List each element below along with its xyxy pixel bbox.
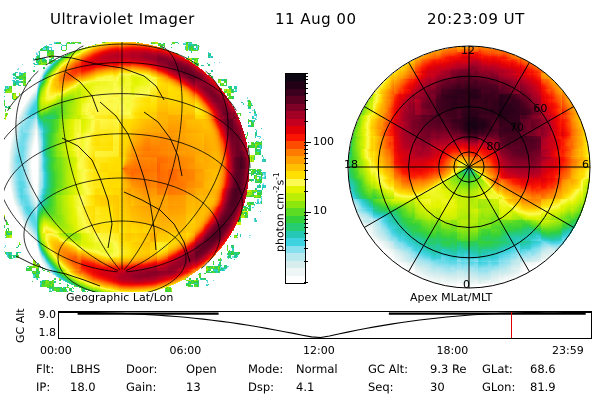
colorbar-minor-tick xyxy=(304,248,308,249)
colorbar-axis-label: photon cm-2s-1 xyxy=(272,172,287,252)
orbit-x-ticks: 00:0006:0012:0018:0023:59 xyxy=(0,342,600,362)
colorbar-label-exp2: -1 xyxy=(272,172,281,179)
footer-key-gc-alt: GC Alt: xyxy=(368,362,408,376)
mlt-label-18: 18 xyxy=(344,158,358,171)
footer-key-flt: Flt: xyxy=(36,362,54,376)
colorbar-tick-label: 10 xyxy=(313,204,327,217)
colorbar-minor-tick xyxy=(304,219,308,220)
footer-key-glat: GLat: xyxy=(482,362,513,376)
colorbar-label-mid: s xyxy=(274,180,287,186)
colorbar-minor-tick xyxy=(304,282,308,283)
mlt-label-6: 6 xyxy=(582,158,589,171)
colorbar-minor-tick xyxy=(304,149,308,150)
footer-key-glon: GLon: xyxy=(482,380,515,394)
globe-image xyxy=(4,42,266,292)
observation-date: 11 Aug 00 xyxy=(275,10,357,28)
colorbar-major-tick xyxy=(304,142,311,143)
footer-key-dsp: Dsp: xyxy=(248,380,274,394)
footer-value-mode: Normal xyxy=(296,362,338,376)
orbit-x-tick-0: 00:00 xyxy=(40,344,72,357)
uvi-display: Ultraviolet Imager 11 Aug 00 20:23:09 UT… xyxy=(0,0,600,400)
colorbar-minor-tick xyxy=(304,215,308,216)
footer-value-gc-alt: 9.3 Re xyxy=(430,362,467,376)
footer-key-ip: IP: xyxy=(36,380,50,394)
footer-value-ip: 18.0 xyxy=(70,380,96,394)
mlat-ring-label-80: 80 xyxy=(486,140,500,153)
orbit-x-tick-1: 06:00 xyxy=(170,344,202,357)
colorbar-minor-tick xyxy=(304,79,308,80)
orbit-y-ticks: 9.01.8 xyxy=(22,308,56,344)
mlt-label-12: 12 xyxy=(461,44,475,57)
orbit-x-tick-2: 12:00 xyxy=(303,344,335,357)
globe-caption: Geographic Lat/Lon xyxy=(66,291,173,304)
footer-value-glat: 68.6 xyxy=(530,362,556,376)
colorbar-minor-tick xyxy=(304,109,308,110)
colorbar-minor-tick xyxy=(304,121,308,122)
footer-key-mode: Mode: xyxy=(248,362,283,376)
polar-caption: Apex MLat/MLT xyxy=(410,291,492,304)
orbit-x-tick-3: 18:00 xyxy=(437,344,469,357)
polar-dial-labels: 121860607080 xyxy=(344,42,594,292)
colorbar-minor-tick xyxy=(304,88,308,89)
mlat-ring-label-60: 60 xyxy=(533,102,547,115)
orbit-y-tick-1: 1.8 xyxy=(39,326,57,339)
status-footer: Flt:LBHSDoor:OpenMode:NormalGC Alt:9.3 R… xyxy=(0,362,600,398)
observation-time: 20:23:09 UT xyxy=(427,10,525,28)
colorbar-tick-label: 100 xyxy=(313,135,334,148)
colorbar-minor-tick xyxy=(304,153,308,154)
footer-key-gain: Gain: xyxy=(126,380,156,394)
colorbar-minor-tick xyxy=(304,73,308,74)
orbit-x-tick-4: 23:59 xyxy=(552,344,584,357)
footer-key-seq: Seq: xyxy=(368,380,394,394)
colorbar-minor-tick xyxy=(304,158,308,159)
colorbar-minor-tick xyxy=(304,100,308,101)
colorbar-minor-tick xyxy=(304,223,308,224)
orbit-time-marker xyxy=(511,312,512,338)
colorbar-minor-tick xyxy=(304,83,308,84)
colorbar-minor-tick xyxy=(304,93,308,94)
mlt-label-0: 0 xyxy=(463,278,470,291)
footer-value-dsp: 4.1 xyxy=(296,380,314,394)
orbit-y-tick-0: 9.0 xyxy=(39,308,57,321)
footer-value-flt: LBHS xyxy=(70,362,100,376)
colorbar-minor-tick xyxy=(304,170,308,171)
colorbar-minor-tick xyxy=(304,145,308,146)
colorbar-ticks: 10010 xyxy=(285,73,325,282)
colorbar-minor-tick xyxy=(304,240,308,241)
colorbar-minor-tick xyxy=(304,179,308,180)
mlat-ring-label-70: 70 xyxy=(510,121,524,134)
colorbar-label-text: photon cm xyxy=(274,193,287,252)
colorbar-minor-tick xyxy=(304,227,308,228)
colorbar-label-exp1: -2 xyxy=(272,186,281,193)
colorbar-major-tick xyxy=(304,212,311,213)
footer-key-door: Door: xyxy=(126,362,157,376)
footer-value-gain: 13 xyxy=(186,380,201,394)
colorbar-minor-tick xyxy=(304,191,308,192)
colorbar-minor-tick xyxy=(304,233,308,234)
colorbar-minor-tick xyxy=(304,261,308,262)
footer-value-seq: 30 xyxy=(430,380,445,394)
colorbar-minor-tick xyxy=(304,76,308,77)
footer-value-door: Open xyxy=(186,362,217,376)
instrument-title: Ultraviolet Imager xyxy=(50,10,195,28)
footer-value-glon: 81.9 xyxy=(530,380,556,394)
colorbar-minor-tick xyxy=(304,163,308,164)
